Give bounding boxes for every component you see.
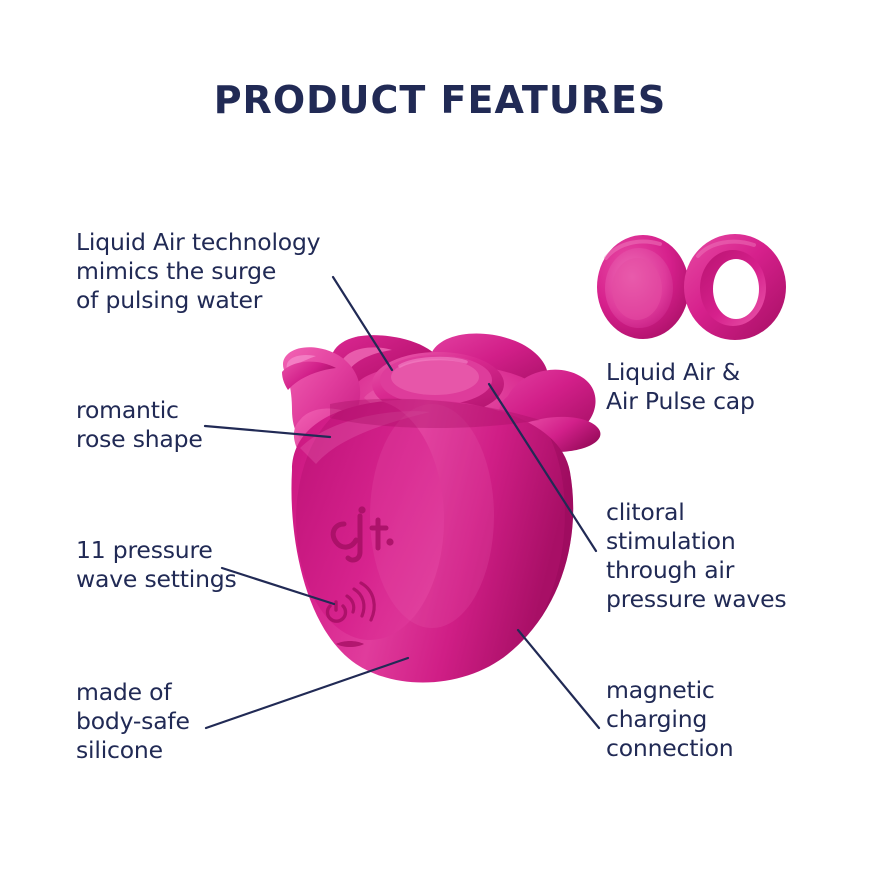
air-pulse-cap-image bbox=[684, 234, 786, 340]
callout-label-silicone: made of body-safe silicone bbox=[76, 678, 190, 765]
callout-label-magnetic: magnetic charging connection bbox=[606, 676, 733, 763]
accessory-caps bbox=[597, 234, 786, 340]
callout-label-rose-shape: romantic rose shape bbox=[76, 396, 203, 454]
callout-label-liquid-air: Liquid Air technology mimics the surge o… bbox=[76, 228, 320, 315]
product-features-infographic: PRODUCT FEATURES bbox=[0, 0, 880, 880]
liquid-air-cap-image bbox=[597, 235, 689, 339]
callout-label-pressure-settings: 11 pressure wave settings bbox=[76, 536, 237, 594]
callout-label-clitoral: clitoral stimulation through air pressur… bbox=[606, 498, 786, 614]
callout-label-cap: Liquid Air & Air Pulse cap bbox=[606, 358, 755, 416]
